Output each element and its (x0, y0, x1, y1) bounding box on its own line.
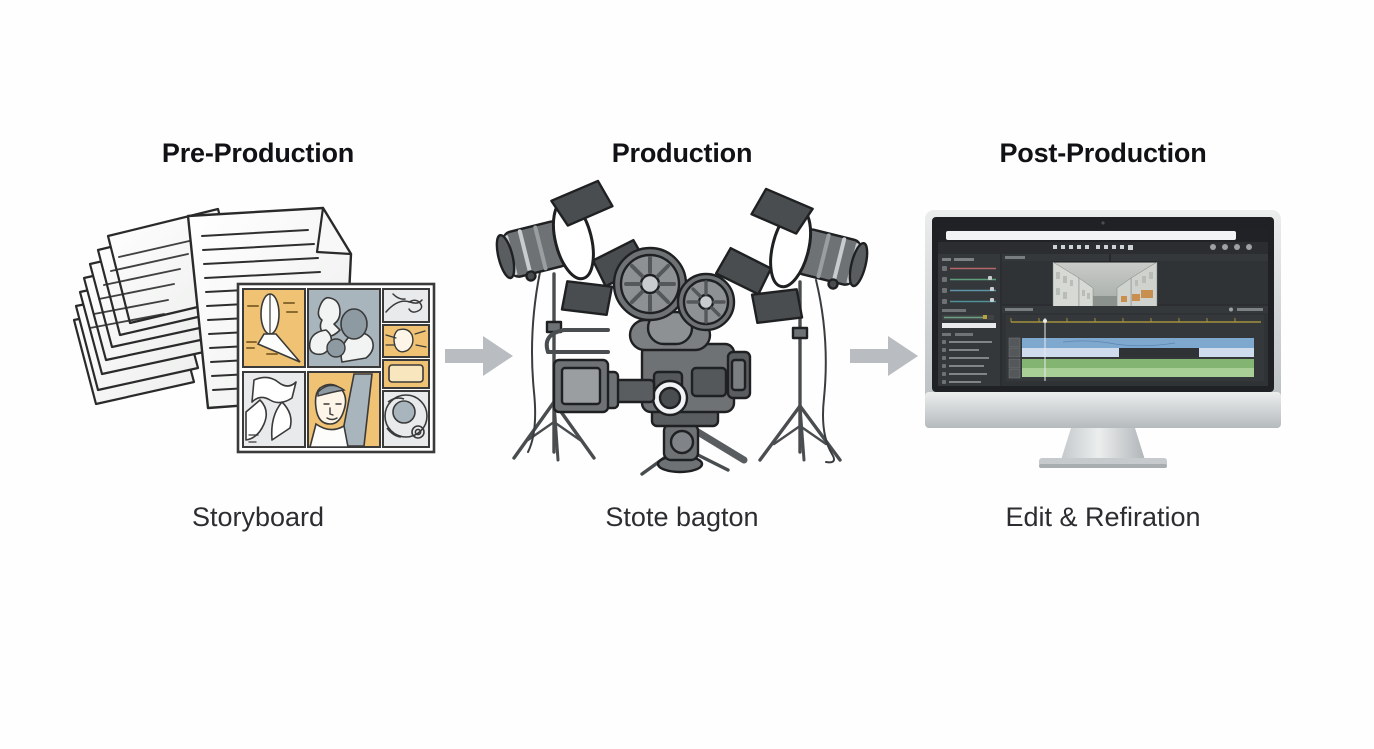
stage-caption-production: Stote bagton (605, 504, 758, 531)
stage-title-post-production: Post-Production (1000, 140, 1207, 174)
film-camera-and-studio-lights-icon (492, 202, 872, 482)
stage-post-production: Post-Production (913, 140, 1293, 580)
script-stack-and-storyboard-panels-icon (68, 202, 448, 482)
desktop-monitor-video-editor-icon (913, 202, 1293, 482)
stage-title-pre-production: Pre-Production (162, 140, 354, 174)
workflow-infographic: Pre-Production (0, 0, 1374, 749)
stage-caption-post-production: Edit & Refiration (1005, 504, 1200, 531)
stage-caption-pre-production: Storyboard (192, 504, 324, 531)
studio-light-left (486, 174, 657, 460)
stage-pre-production: Pre-Production (68, 140, 448, 580)
stage-title-production: Production (612, 140, 753, 174)
studio-light-right (707, 182, 878, 462)
arrow-production-to-post-icon (848, 330, 920, 382)
stage-production: Production (492, 140, 872, 580)
storyboard-grid (238, 284, 434, 452)
